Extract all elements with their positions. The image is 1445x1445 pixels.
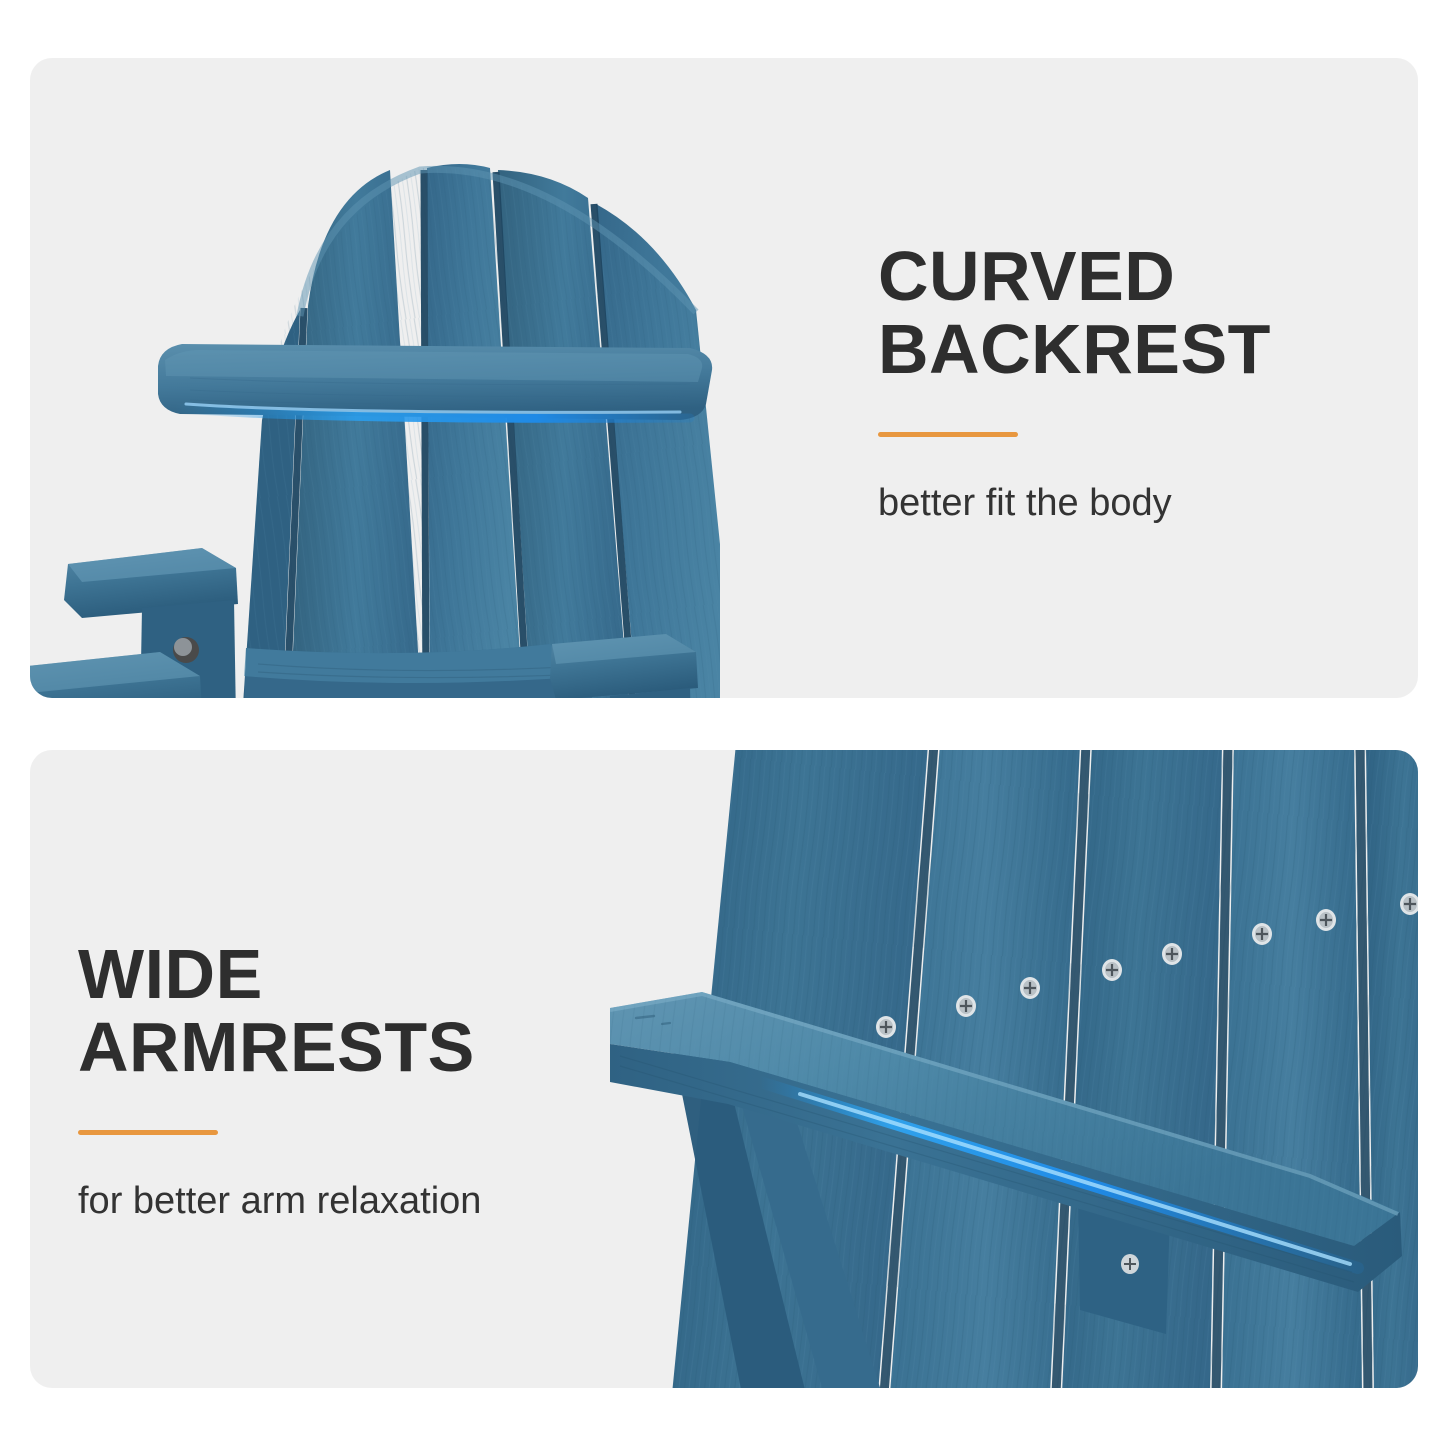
lumbar-support-rail	[158, 344, 712, 420]
screw	[1316, 909, 1336, 931]
feature-title-curved-backrest: CURVED BACKREST	[878, 240, 1378, 386]
feature-panel-wide-armrests: WIDE ARMRESTS for better arm relaxation	[30, 750, 1418, 1388]
adirondack-chair-backrest-illustration	[30, 58, 720, 698]
screw	[1102, 959, 1122, 981]
infographic-page: CURVED BACKREST better fit the body	[0, 0, 1445, 1445]
accent-divider-top	[878, 432, 1018, 437]
screw	[1121, 1254, 1139, 1274]
accent-divider-bottom	[78, 1130, 218, 1135]
feature-subtitle-curved-backrest: better fit the body	[878, 481, 1378, 527]
screw	[876, 1016, 896, 1038]
armrest-right	[550, 634, 698, 698]
feature-text-wide-armrests: WIDE ARMRESTS for better arm relaxation	[78, 938, 678, 1224]
screw	[1162, 943, 1182, 965]
screw	[1020, 977, 1040, 999]
adirondack-chair-armrest-illustration	[610, 750, 1418, 1388]
screw	[956, 995, 976, 1017]
feature-panel-curved-backrest: CURVED BACKREST better fit the body	[30, 58, 1418, 698]
feature-title-wide-armrests: WIDE ARMRESTS	[78, 938, 678, 1084]
screw	[1252, 923, 1272, 945]
feature-subtitle-wide-armrests: for better arm relaxation	[78, 1179, 678, 1225]
feature-text-curved-backrest: CURVED BACKREST better fit the body	[878, 240, 1378, 526]
